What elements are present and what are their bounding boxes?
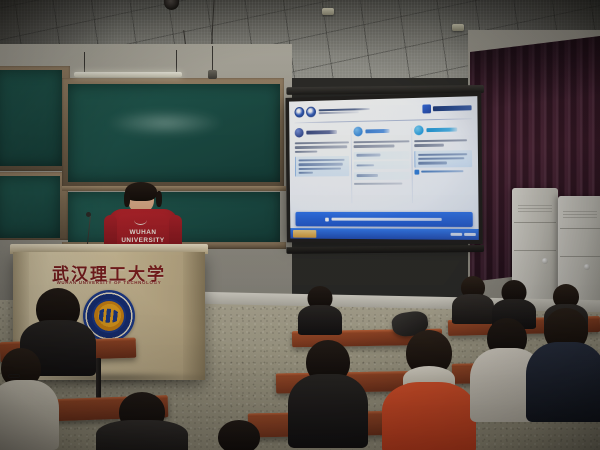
student-torso xyxy=(298,305,342,335)
circle-icon-cyan xyxy=(414,125,424,135)
slide-columns xyxy=(289,119,478,207)
list-item xyxy=(354,151,410,160)
projector-screen-weight-bar xyxy=(286,245,484,254)
start-button[interactable] xyxy=(293,229,316,237)
presentation-slide xyxy=(289,96,479,240)
chalkboard xyxy=(0,70,62,166)
column-heading xyxy=(414,124,472,135)
student-orange-hoodie xyxy=(382,330,476,450)
slide-section-label xyxy=(422,103,471,113)
chalkboard-main xyxy=(68,84,280,182)
column-heading xyxy=(353,126,409,137)
circle-icon-navy xyxy=(295,128,304,138)
ceiling-fixture xyxy=(452,24,464,31)
hoodie-text-line1: WUHAN xyxy=(130,229,157,236)
chalkboard-glare xyxy=(106,110,224,136)
student xyxy=(452,276,494,324)
slide-column-1 xyxy=(295,127,350,207)
student-torso xyxy=(382,382,476,450)
student-head xyxy=(218,420,260,450)
slide-column-2 xyxy=(353,126,410,207)
highlight-badge xyxy=(414,169,472,175)
ac-control-knob[interactable] xyxy=(542,258,548,264)
fluorescent-lamp xyxy=(74,72,182,77)
projection-screen xyxy=(285,92,482,244)
banner-bullet-icon xyxy=(325,217,329,221)
student xyxy=(288,340,368,450)
presenter-hair-side xyxy=(124,191,130,207)
slide-column-3 xyxy=(414,124,473,207)
column-heading xyxy=(295,127,349,138)
lamp-rod xyxy=(84,52,85,74)
system-tray[interactable] xyxy=(451,233,476,236)
student xyxy=(0,348,70,450)
column-paragraph xyxy=(354,140,410,147)
column-callout xyxy=(295,156,349,177)
os-taskbar[interactable] xyxy=(290,228,479,240)
student xyxy=(96,392,188,450)
slide-org-title xyxy=(319,108,370,115)
student-torso xyxy=(526,342,600,422)
ceiling-fixture xyxy=(322,8,334,15)
crest-wave xyxy=(98,309,120,323)
lamp-housing xyxy=(208,70,217,79)
student-torso xyxy=(288,374,368,448)
student xyxy=(298,286,342,334)
lamp-rod xyxy=(212,46,213,72)
column-paragraph xyxy=(414,139,472,146)
institution-seal-icon xyxy=(294,107,304,118)
list-item xyxy=(354,161,410,169)
lamp-rod xyxy=(176,50,177,72)
glasses-icon xyxy=(8,374,20,378)
hoodie-drawstring xyxy=(134,215,147,225)
column-list xyxy=(354,151,410,180)
student-torso xyxy=(0,380,59,450)
lecture-hall-photo: WUHAN UNIVERSITY 武汉理工大学 WUHAN UNIVERSITY… xyxy=(0,0,600,450)
slide-banner xyxy=(295,212,472,227)
chapter-marker-icon xyxy=(422,104,431,113)
institution-seal-icon xyxy=(306,107,316,118)
column-paragraph xyxy=(295,141,349,152)
presenter-hair-side xyxy=(156,191,162,207)
chalkboard xyxy=(0,176,60,238)
column-footnote xyxy=(354,182,410,184)
student xyxy=(526,308,600,428)
slide-logos xyxy=(294,107,316,118)
student xyxy=(196,420,282,450)
podium-university-name-en: WUHAN UNIVERSITY OF TECHNOLOGY xyxy=(13,280,205,285)
student-torso xyxy=(96,420,188,450)
hoodie-text-line2: UNIVERSITY xyxy=(121,237,164,244)
badge-marker-icon xyxy=(414,169,419,174)
list-item xyxy=(354,171,410,179)
column-callout xyxy=(414,150,472,168)
ac-control-knob[interactable] xyxy=(584,264,590,270)
circle-icon-blue xyxy=(353,127,362,137)
